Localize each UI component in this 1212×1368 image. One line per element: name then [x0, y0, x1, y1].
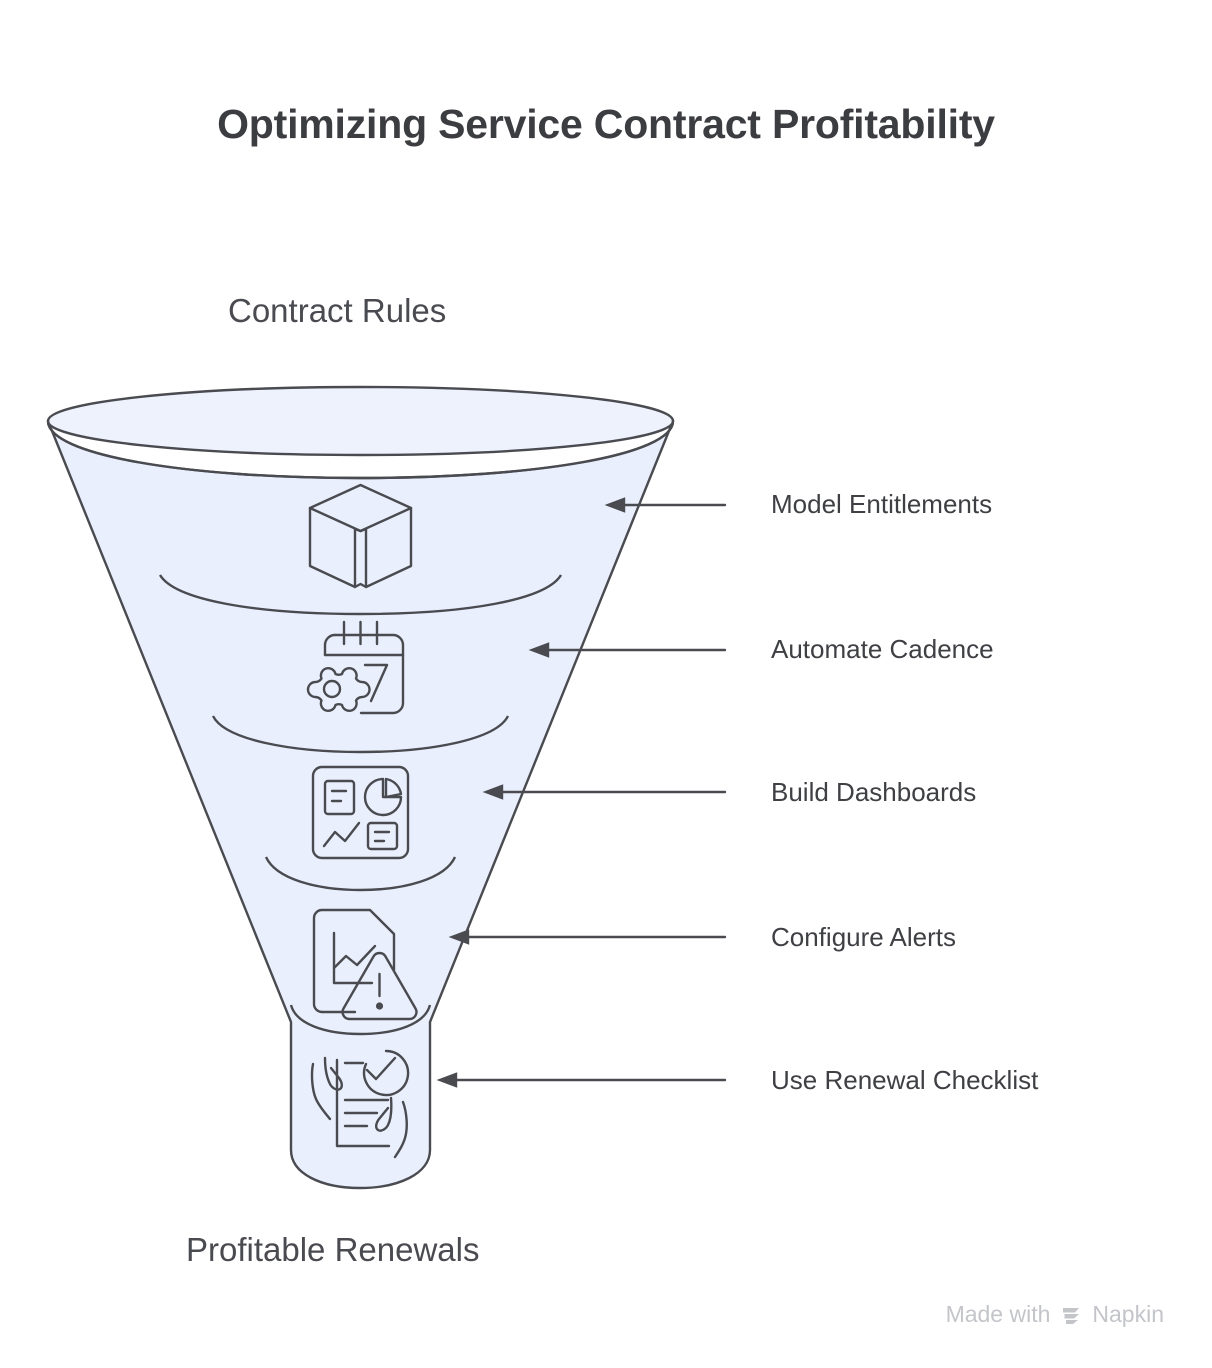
stage-label-5: Use Renewal Checklist	[771, 1065, 1038, 1096]
funnel-rim	[48, 387, 673, 455]
watermark-brand: Napkin	[1092, 1301, 1164, 1328]
funnel-body	[48, 387, 673, 1188]
stage-label-2: Automate Cadence	[771, 634, 994, 665]
stage-label-3: Build Dashboards	[771, 777, 976, 808]
stage-label-4: Configure Alerts	[771, 922, 956, 953]
watermark-prefix: Made with	[946, 1301, 1051, 1328]
funnel-graphic	[0, 0, 1212, 1368]
funnel-outline	[48, 421, 673, 1188]
connector-arrow-4	[452, 931, 725, 943]
napkin-logo-icon	[1059, 1303, 1083, 1327]
stage-label-1: Model Entitlements	[771, 489, 992, 520]
diagram-canvas: Optimizing Service Contract Profitabilit…	[0, 0, 1212, 1368]
napkin-watermark: Made with Napkin	[946, 1301, 1164, 1328]
connector-arrow-5	[440, 1074, 725, 1086]
